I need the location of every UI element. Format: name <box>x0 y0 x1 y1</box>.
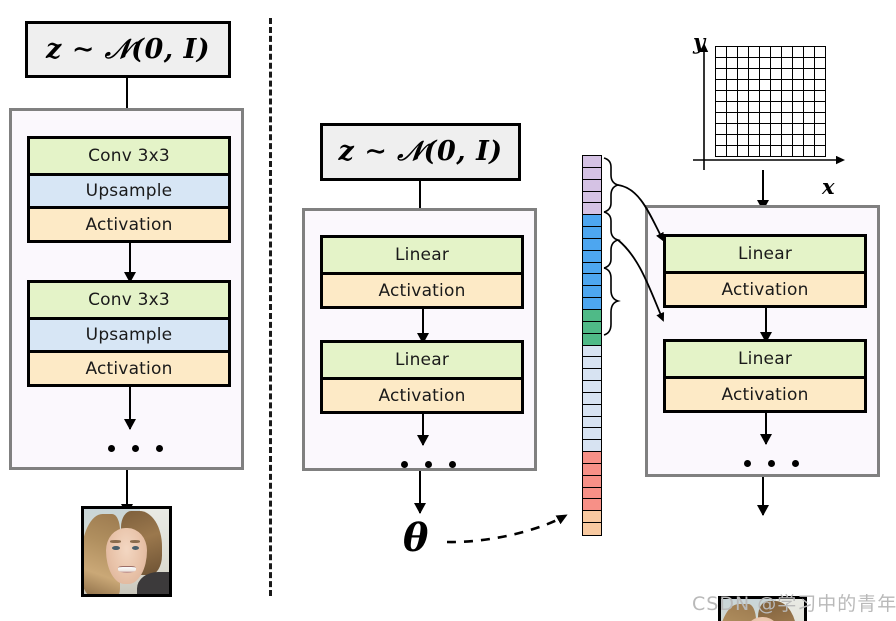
grid-cell <box>815 80 826 91</box>
vector-cell <box>583 346 601 358</box>
vector-cell <box>583 488 601 500</box>
vector-cell <box>583 156 601 168</box>
theta-parameter-vector <box>582 155 602 536</box>
left-ellipsis <box>108 445 163 452</box>
grid-cell <box>793 146 804 157</box>
grid-cell <box>738 69 749 80</box>
grid-cell <box>727 80 738 91</box>
grid-cell <box>727 124 738 135</box>
left-latent-formula: z ∼ 𝒩(0, I) <box>46 34 210 66</box>
right-arrow-block-to-output <box>762 477 764 515</box>
vector-cell <box>583 417 601 429</box>
grid-cell <box>727 47 738 58</box>
vector-cell <box>583 263 601 275</box>
vector-cell <box>583 215 601 227</box>
grid-cell <box>793 91 804 102</box>
grid-cell <box>760 58 771 69</box>
panel-divider <box>269 18 272 596</box>
grid-cell <box>815 91 826 102</box>
grid-cell <box>782 91 793 102</box>
grid-cell <box>738 102 749 113</box>
grid-cell <box>782 69 793 80</box>
left-network-container: Conv 3x3 Upsample Activation Conv 3x3 Up… <box>9 108 244 470</box>
left-arrow-block1-to-block2 <box>129 243 131 282</box>
grid-cell <box>749 146 760 157</box>
grid-cell <box>804 69 815 80</box>
vector-cell <box>583 357 601 369</box>
vector-cell <box>583 499 601 511</box>
grid-cell <box>738 80 749 91</box>
grid-cell <box>771 80 782 91</box>
vector-cell <box>583 251 601 263</box>
grid-cell <box>771 102 782 113</box>
grid-cell <box>727 102 738 113</box>
vector-cell <box>583 393 601 405</box>
right-arrow-block1-to-block2 <box>765 308 767 342</box>
vector-cell <box>583 298 601 310</box>
grid-cell <box>804 102 815 113</box>
vector-cell <box>583 203 601 215</box>
grid-cell <box>771 69 782 80</box>
left-latent-box: z ∼ 𝒩(0, I) <box>25 21 231 78</box>
grid-cell <box>760 113 771 124</box>
grid-cell <box>804 91 815 102</box>
vector-cell <box>583 227 601 239</box>
grid-cell <box>804 146 815 157</box>
grid-cell <box>771 135 782 146</box>
grid-cell <box>815 124 826 135</box>
grid-cell <box>804 47 815 58</box>
left-block-1-activation-layer: Activation <box>30 206 228 240</box>
vector-cell <box>583 381 601 393</box>
grid-cell <box>771 91 782 102</box>
middle-block-1-activation-layer: Activation <box>323 272 521 306</box>
vector-cell <box>583 322 601 334</box>
grid-cell <box>727 146 738 157</box>
middle-arrow-block1-to-block2 <box>422 309 424 343</box>
grid-cell <box>749 80 760 91</box>
vector-cell <box>583 511 601 523</box>
grid-cell <box>771 113 782 124</box>
right-network-container: Linear Activation Linear Activation <box>645 205 880 477</box>
left-output-image <box>81 506 172 597</box>
grid-cell <box>749 91 760 102</box>
grid-cell <box>749 124 760 135</box>
grid-cell <box>738 58 749 69</box>
grid-cell <box>727 69 738 80</box>
grid-cell <box>782 146 793 157</box>
grid-cell <box>716 69 727 80</box>
grid-cell <box>738 47 749 58</box>
grid-cell <box>749 58 760 69</box>
grid-cell <box>815 58 826 69</box>
vector-cell <box>583 440 601 452</box>
grid-cell <box>804 113 815 124</box>
grid-cell <box>804 124 815 135</box>
grid-cell <box>749 47 760 58</box>
grid-cell <box>749 102 760 113</box>
left-block-1: Conv 3x3 Upsample Activation <box>27 136 231 243</box>
vector-cell <box>583 369 601 381</box>
right-block-2-activation-layer: Activation <box>666 376 864 410</box>
grid-cell <box>716 80 727 91</box>
middle-block-2-linear-layer: Linear <box>323 343 521 377</box>
grid-cell <box>716 135 727 146</box>
grid-cell <box>815 47 826 58</box>
vector-cell <box>583 464 601 476</box>
grid-cell <box>771 124 782 135</box>
y-axis-label: y <box>693 29 705 54</box>
grid-cell <box>815 113 826 124</box>
middle-block-1: Linear Activation <box>320 235 524 309</box>
grid-cell <box>749 135 760 146</box>
grid-cell <box>760 102 771 113</box>
middle-arrow-block-to-theta <box>419 471 421 513</box>
grid-cell <box>793 69 804 80</box>
grid-cell <box>782 135 793 146</box>
right-block-2: Linear Activation <box>663 339 867 413</box>
right-block-1-linear-layer: Linear <box>666 237 864 271</box>
watermark: CSDN @学习中的青年 <box>692 589 896 616</box>
grid-cell <box>782 124 793 135</box>
left-block-2: Conv 3x3 Upsample Activation <box>27 280 231 387</box>
figure-root: z ∼ 𝒩(0, I) Conv 3x3 Upsample Activation… <box>0 0 896 621</box>
grid-cell <box>782 47 793 58</box>
middle-arrow-block2-to-ellipsis <box>422 414 424 445</box>
left-arrow-block2-to-ellipsis <box>129 387 131 429</box>
grid-cell <box>782 113 793 124</box>
grid-cell <box>771 47 782 58</box>
grid-cell <box>760 80 771 91</box>
grid-cell <box>738 113 749 124</box>
grid-cell <box>782 102 793 113</box>
right-arrow-grid-to-block <box>762 170 764 210</box>
grid-cell <box>793 80 804 91</box>
grid-cell <box>727 113 738 124</box>
grid-cell <box>738 91 749 102</box>
vector-cell <box>583 428 601 440</box>
grid-cell <box>815 102 826 113</box>
grid-cell <box>793 47 804 58</box>
right-block-2-linear-layer: Linear <box>666 342 864 376</box>
theta-label: θ <box>403 519 428 557</box>
vector-cell <box>583 180 601 192</box>
grid-cell <box>793 124 804 135</box>
grid-cell <box>716 113 727 124</box>
grid-cell <box>793 135 804 146</box>
vector-cell <box>583 239 601 251</box>
right-block-1: Linear Activation <box>663 234 867 308</box>
grid-cell <box>793 102 804 113</box>
left-block-1-conv-layer: Conv 3x3 <box>30 139 228 173</box>
grid-cell <box>716 124 727 135</box>
grid-cell <box>782 80 793 91</box>
middle-latent-formula: z ∼ 𝒩(0, I) <box>339 136 503 168</box>
grid-cell <box>727 91 738 102</box>
left-block-2-upsample-layer: Upsample <box>30 317 228 350</box>
grid-cell <box>771 58 782 69</box>
middle-latent-box: z ∼ 𝒩(0, I) <box>320 123 521 181</box>
grid-cell <box>815 135 826 146</box>
grid-cell <box>727 58 738 69</box>
x-axis-label: x <box>822 174 835 199</box>
grid-cell <box>738 146 749 157</box>
grid-cell <box>782 58 793 69</box>
vector-cell <box>583 452 601 464</box>
grid-cell <box>716 146 727 157</box>
grid-cell <box>716 102 727 113</box>
right-ellipsis <box>744 460 799 467</box>
vector-cell <box>583 168 601 180</box>
grid-cell <box>804 135 815 146</box>
middle-ellipsis <box>401 461 456 468</box>
grid-cell <box>727 135 738 146</box>
theta-to-vector-arrow <box>447 516 565 542</box>
grid-cell <box>815 69 826 80</box>
vector-cell <box>583 286 601 298</box>
vector-cell <box>583 405 601 417</box>
vector-cell <box>583 192 601 204</box>
grid-cell <box>760 135 771 146</box>
grid-cell <box>716 91 727 102</box>
grid-cell <box>749 69 760 80</box>
grid-cell <box>716 58 727 69</box>
middle-network-container: Linear Activation Linear Activation <box>302 208 537 471</box>
right-block-1-activation-layer: Activation <box>666 271 864 305</box>
middle-block-2-activation-layer: Activation <box>323 377 521 411</box>
left-block-2-conv-layer: Conv 3x3 <box>30 283 228 317</box>
vector-cell <box>583 310 601 322</box>
grid-cell <box>738 135 749 146</box>
middle-block-1-linear-layer: Linear <box>323 238 521 272</box>
grid-cell <box>749 113 760 124</box>
grid-cell <box>760 69 771 80</box>
grid-cell <box>760 146 771 157</box>
vector-cell <box>583 334 601 346</box>
grid-cell <box>793 113 804 124</box>
grid-cell <box>760 47 771 58</box>
xy-coordinate-grid: y x <box>689 28 869 168</box>
grid-cell <box>738 124 749 135</box>
grid-cell <box>793 58 804 69</box>
grid-cell <box>760 124 771 135</box>
grid-cell <box>804 58 815 69</box>
grid-cell <box>804 80 815 91</box>
grid-cells <box>715 46 826 157</box>
left-block-1-upsample-layer: Upsample <box>30 173 228 206</box>
vector-brace-group <box>604 158 618 335</box>
grid-cell <box>815 146 826 157</box>
vector-cell <box>583 476 601 488</box>
vector-cell <box>583 274 601 286</box>
grid-cell <box>771 146 782 157</box>
grid-cell <box>760 91 771 102</box>
left-block-2-activation-layer: Activation <box>30 350 228 384</box>
right-arrow-block2-to-ellipsis <box>765 413 767 444</box>
grid-cell <box>716 47 727 58</box>
middle-block-2: Linear Activation <box>320 340 524 414</box>
vector-cell <box>583 523 601 535</box>
